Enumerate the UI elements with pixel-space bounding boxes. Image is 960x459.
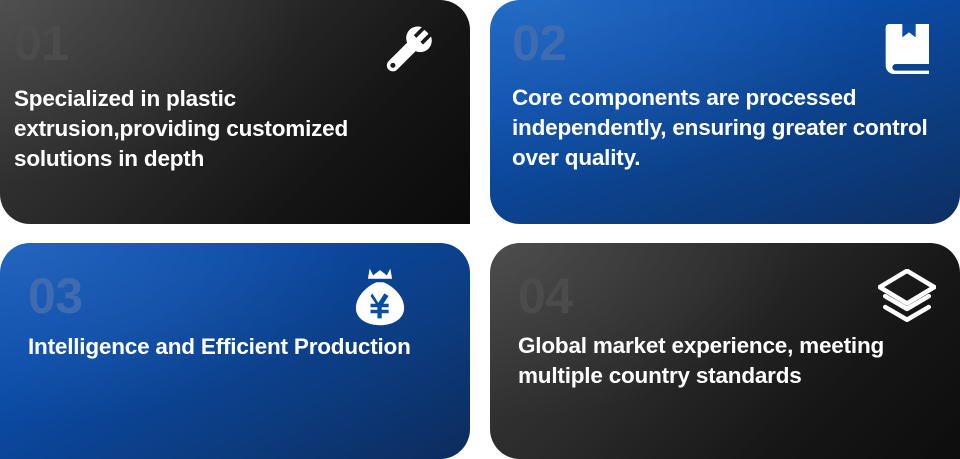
feature-card-01[interactable]: 01 Specialized in plastic extrusion,prov… (0, 0, 470, 224)
feature-card-02-title: Core components are processed independen… (512, 83, 934, 173)
feature-card-03-title: Intelligence and Efficient Production (28, 332, 444, 362)
feature-card-02[interactable]: 02 Core components are processed indepen… (490, 0, 960, 224)
book-bookmark-icon (884, 22, 934, 76)
feature-card-04-number: 04 (518, 271, 934, 321)
feature-card-04-title: Global market experience, meeting multip… (518, 331, 934, 391)
feature-card-01-title: Specialized in plastic extrusion,providi… (14, 84, 444, 174)
wrench-icon (380, 24, 434, 78)
feature-card-02-number: 02 (512, 18, 934, 68)
feature-card-03[interactable]: 03 Intelligence and Efficient Production (0, 243, 470, 459)
money-bag-yen-icon (352, 265, 408, 327)
layers-stack-icon (878, 269, 936, 327)
feature-card-04[interactable]: 04 Global market experience, meeting mul… (490, 243, 960, 459)
feature-cards-grid: 01 Specialized in plastic extrusion,prov… (0, 0, 960, 459)
